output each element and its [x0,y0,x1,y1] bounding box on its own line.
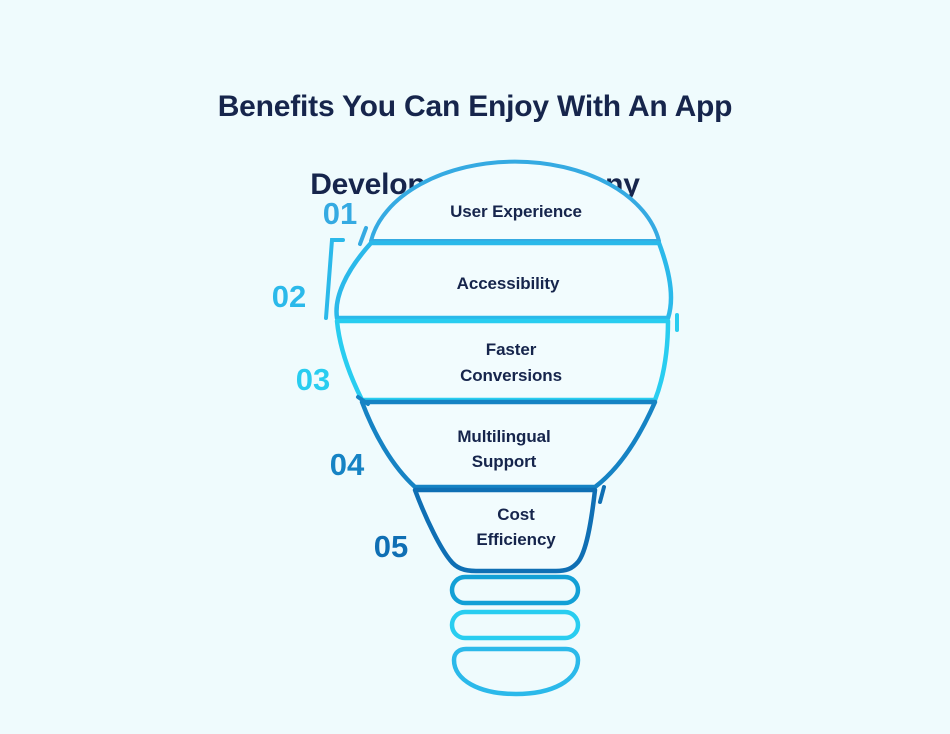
step-05-label-line-1: Cost [497,505,535,524]
step-01-leader-line [360,228,366,244]
step-01-group[interactable]: 01 User Experience [323,162,659,244]
step-03-label-line-2: Conversions [460,366,562,385]
lightbulb-diagram: 01 User Experience 02 Accessibility 03 F… [0,0,950,734]
step-03-number: 03 [296,362,330,397]
step-04-number: 04 [330,447,365,482]
step-01-label: User Experience [450,202,582,221]
step-02-number: 02 [272,279,306,314]
step-05-number: 05 [374,529,408,564]
step-03-group[interactable]: 03 Faster Conversions [296,315,677,400]
step-04-label-line-2: Support [472,452,537,471]
step-02-group[interactable]: 02 Accessibility [272,240,671,318]
step-05-leader-line [600,487,604,502]
step-01-number: 01 [323,196,357,231]
step-05-group[interactable]: 05 Cost Efficiency [374,487,604,571]
step-04-label-line-1: Multilingual [457,427,550,446]
step-03-label-line-1: Faster [486,340,537,359]
base-cap [454,649,578,694]
step-02-label: Accessibility [457,274,560,293]
step-03-band-shape [337,321,668,400]
infographic-canvas: Benefits You Can Enjoy With An App Devel… [0,0,950,734]
base-ring-1 [452,577,578,603]
step-04-group[interactable]: 04 Multilingual Support [330,397,655,487]
step-05-label-line-2: Efficiency [476,530,556,549]
bulb-base-group [452,577,578,694]
base-ring-2 [452,612,578,638]
